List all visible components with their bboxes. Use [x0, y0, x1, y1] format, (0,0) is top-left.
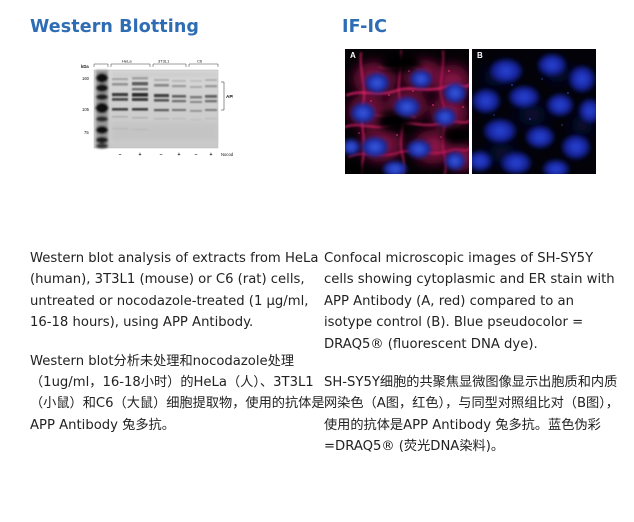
svg-text:+: + [210, 152, 213, 158]
svg-text:75: 75 [84, 130, 89, 135]
svg-text:160: 160 [82, 76, 90, 81]
if-ic-figure: A [312, 37, 618, 197]
svg-text:105: 105 [82, 107, 90, 112]
page-title-if-ic: IF-IC [312, 0, 618, 37]
caption-english-western-blotting: Western blot analysis of extracts from H… [30, 248, 330, 334]
if-ic-panel-b: B [472, 49, 596, 174]
western-blot-image: kDa 160 105 75 [78, 56, 233, 168]
caption-english-if-ic: Confocal microscopic images of SH-SY5Y c… [324, 248, 626, 355]
panel-a-confocal-svg [345, 49, 469, 174]
panel-b-confocal-svg [472, 49, 596, 174]
panel-label-b: B [477, 51, 483, 60]
if-ic-image: A [345, 49, 596, 174]
caption-chinese-if-ic: SH-SY5Y细胞的共聚焦显微图像显示出胞质和内质网染色（A图，红色），与同型对… [324, 372, 626, 458]
svg-text:3T3L1: 3T3L1 [158, 59, 170, 64]
svg-text:+: + [178, 152, 181, 158]
western-blot-svg: kDa 160 105 75 [78, 56, 233, 168]
column-western-blotting: Western Blotting [0, 0, 306, 197]
svg-text:kDa: kDa [81, 64, 89, 69]
svg-text:Nocodazole: Nocodazole [221, 152, 233, 157]
svg-text:–: – [160, 152, 163, 158]
panel-label-a: A [350, 51, 356, 60]
western-blot-figure: kDa 160 105 75 [0, 37, 306, 197]
caption-chinese-western-blotting: Western blot分析未处理和nocodazole处理（1ug/ml，16… [30, 351, 330, 437]
svg-text:+: + [139, 152, 142, 158]
svg-text:–: – [195, 152, 198, 158]
caption-block-western-blotting: Western blot analysis of extracts from H… [30, 248, 330, 436]
column-if-ic: IF-IC A [312, 0, 618, 197]
antibody-application-figure-page: Western Blotting [0, 0, 634, 522]
svg-text:C6: C6 [197, 59, 203, 64]
page-title-western-blotting: Western Blotting [0, 0, 306, 37]
caption-block-if-ic: Confocal microscopic images of SH-SY5Y c… [324, 248, 626, 457]
if-ic-panel-a: A [345, 49, 469, 174]
svg-text:APP: APP [226, 94, 233, 99]
svg-text:HeLa: HeLa [122, 59, 132, 64]
svg-text:–: – [119, 152, 122, 158]
